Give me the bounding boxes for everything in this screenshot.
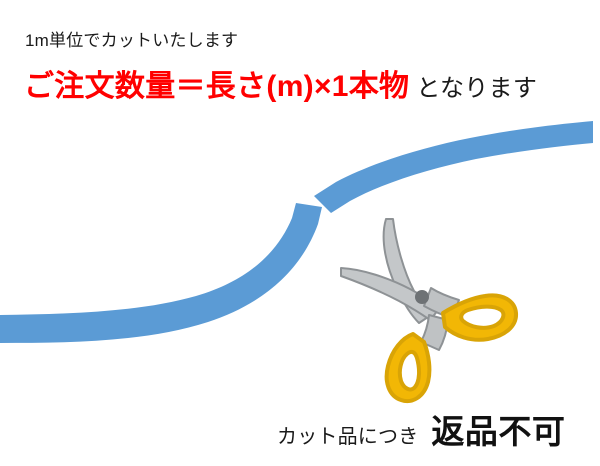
headline-line-1: 1m単位でカットいたします [25, 30, 238, 51]
blue-cable-left-segment [0, 203, 322, 343]
cut-notice-graphic: 1m単位でカットいたします ご注文数量＝長さ(m)×1本物となります カット品に… [0, 0, 600, 466]
footer-note: カット品につき返品不可 [277, 412, 565, 452]
headline-emphasis-text: ご注文数量＝長さ(m)×1本物 [24, 70, 409, 103]
headline-line-2: ご注文数量＝長さ(m)×1本物となります [24, 69, 537, 105]
scissors-handle-lower [387, 334, 430, 401]
headline-tail-text: となります [409, 75, 537, 102]
scissors-pivot-icon [415, 290, 429, 304]
footer-note-small: カット品につき [277, 426, 418, 448]
footer-note-emphasis: 返品不可 [418, 413, 565, 450]
scissors [341, 219, 516, 401]
blue-cable-right-segment [314, 121, 593, 213]
